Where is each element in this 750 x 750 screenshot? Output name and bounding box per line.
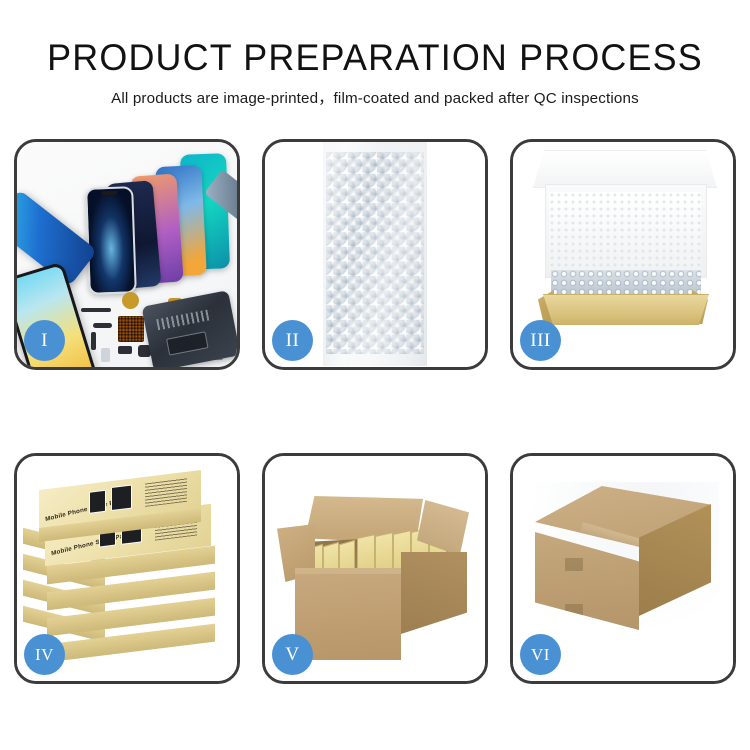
product-preparation-infographic: PRODUCT PREPARATION PROCESS All products… [0,0,750,750]
mailer-front-panel-icon [543,294,709,325]
step-panel-4: Mobile Phone Spare Parts Mobile Phone Sp… [14,453,240,684]
bubble-wrapped-product-icon [551,270,701,298]
page-title: PRODUCT PREPARATION PROCESS [11,0,739,80]
box-spec-lines-1 [145,478,187,507]
step-badge-4: IV [24,634,65,675]
step-panel-5: V [262,453,488,684]
step-badge-1: I [24,320,65,361]
carton-right-face-icon [401,552,467,634]
carton-seam-upper-icon [565,558,583,571]
phone-front-glass-icon [85,186,137,295]
camera-module-part-icon [93,323,112,328]
step-badge-3: III [520,320,561,361]
step-panel-1: I [14,139,240,370]
mailer-lid-icon [533,150,717,188]
screw-grid-part-icon [118,316,144,342]
plastic-sheen-overlay [323,140,427,366]
button-part-icon [118,346,132,354]
step-panel-6: VI [510,453,736,684]
header: PRODUCT PREPARATION PROCESS All products… [0,0,750,109]
box-thumbnail-b1 [111,485,132,512]
page-subtitle: All products are image-printed，film-coat… [0,80,750,109]
step-badge-6: VI [520,634,561,675]
box-thumbnail-a1 [89,490,106,514]
speaker-coil-part-icon [122,292,139,309]
step-badge-5: V [272,634,313,675]
side-rail-part-icon [91,332,96,350]
antenna-part-icon [81,308,111,312]
step-badge-2: II [272,320,313,361]
steps-grid: I II III [14,139,736,684]
foam-liner-icon [549,192,701,270]
sim-tray-part-icon [101,348,110,362]
bubble-wrap-pouch-icon [323,140,427,366]
step-panel-3: III [510,139,736,370]
step-panel-2: II [262,139,488,370]
phone-notch-icon [101,191,118,196]
